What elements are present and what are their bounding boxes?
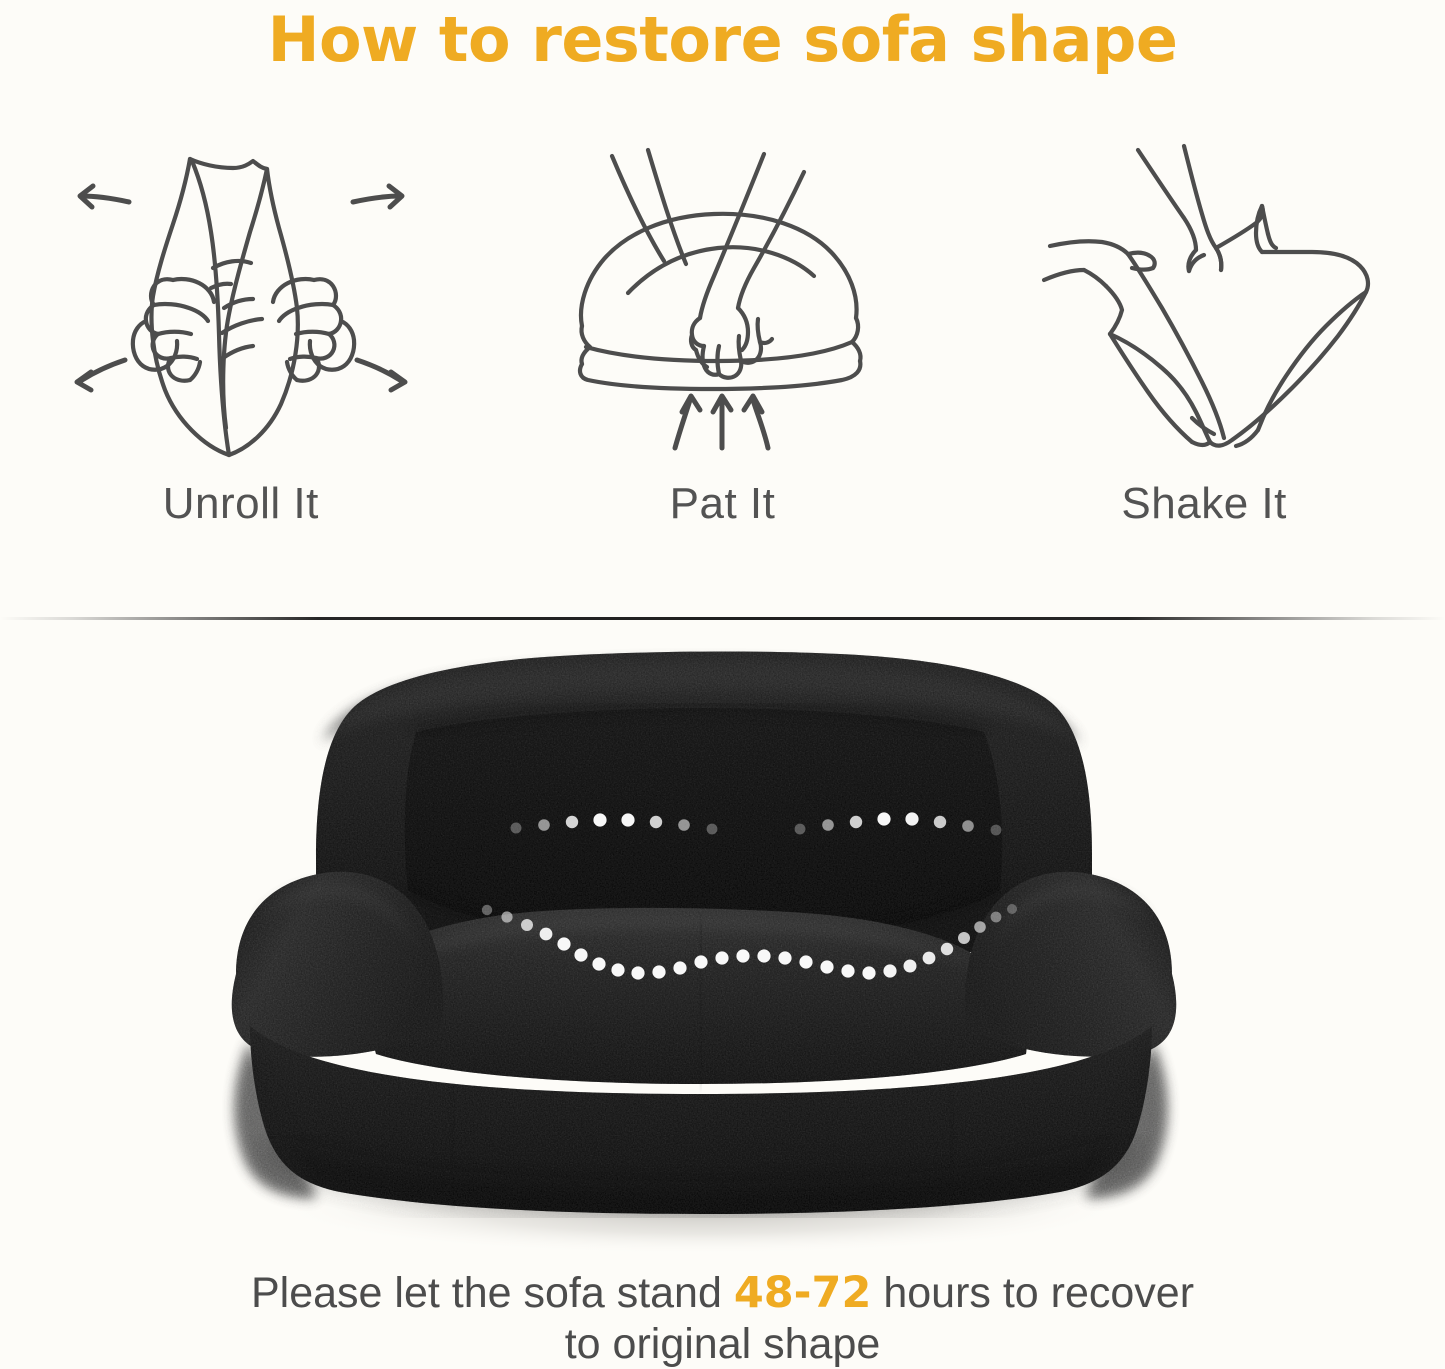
- recovery-note-line1: Please let the sofa stand 48-72 hours to…: [0, 1268, 1445, 1319]
- sofa-cover-photo: [0, 622, 1445, 1262]
- step-unroll: Unroll It: [26, 128, 456, 526]
- step-label-pat: Pat It: [670, 482, 776, 526]
- page-title: How to restore sofa shape: [0, 6, 1445, 74]
- recovery-note-prefix: Please let the sofa stand: [251, 1269, 734, 1317]
- pat-cushion-icon: [542, 128, 902, 468]
- recovery-note-line2: to original shape: [0, 1319, 1445, 1369]
- recovery-note: Please let the sofa stand 48-72 hours to…: [0, 1268, 1445, 1369]
- steps-row: Unroll It: [0, 128, 1445, 568]
- section-divider: [0, 617, 1445, 620]
- product-photo: [0, 622, 1445, 1262]
- step-shake: Shake It: [989, 128, 1419, 526]
- step-pat: Pat It: [507, 128, 937, 526]
- shake-fabric-icon: [1024, 128, 1384, 468]
- recovery-duration: 48-72: [734, 1268, 872, 1318]
- recovery-note-suffix: hours to recover: [871, 1269, 1194, 1317]
- step-label-shake: Shake It: [1121, 482, 1286, 526]
- stretch-fabric-icon: [61, 128, 421, 468]
- step-label-unroll: Unroll It: [163, 482, 319, 526]
